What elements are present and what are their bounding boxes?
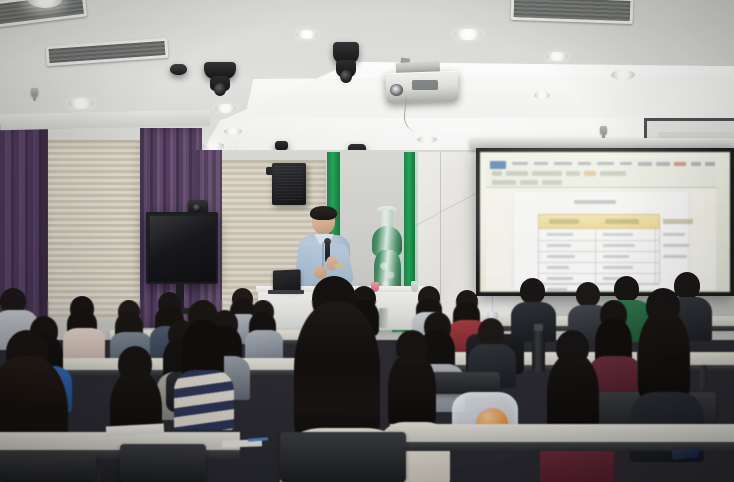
wristwatch-icon (334, 264, 343, 268)
desk-row-front (390, 424, 734, 442)
downlight-icon (202, 142, 224, 150)
projected-application-window (486, 158, 716, 290)
projected-app-logo-icon (490, 161, 506, 169)
desk-leg (700, 365, 707, 389)
lecture-hall-photo (0, 0, 734, 482)
chair (280, 432, 406, 482)
projection-surface (480, 152, 730, 292)
laptop-base (268, 290, 304, 294)
sprinkler-icon (31, 88, 38, 97)
projected-table-body (538, 229, 660, 284)
water-bottle (379, 308, 388, 328)
downlight-icon (68, 98, 94, 109)
wall-speaker (272, 163, 306, 205)
sprinkler-icon (600, 126, 607, 135)
camera-lens-icon (193, 204, 201, 212)
projector-lens-icon (390, 84, 403, 96)
bottle-cap (534, 324, 543, 331)
downlight-icon (417, 136, 437, 143)
projector-vent (412, 80, 438, 90)
downlight-icon (611, 70, 635, 80)
laptop-screen (273, 269, 301, 291)
ceiling-camera-icon (170, 64, 187, 75)
ceiling-camera-body (336, 60, 356, 78)
downlight-icon (224, 128, 242, 135)
display-reflection (150, 216, 214, 280)
projected-ribbon-toolbar (486, 158, 716, 188)
air-vent-icon (511, 0, 634, 24)
downlight-icon (454, 29, 482, 40)
ceiling-camera-body (210, 76, 230, 91)
chair (430, 372, 500, 394)
presenter-hair (310, 206, 337, 220)
downlight-icon (296, 30, 318, 39)
downlight-icon (215, 104, 236, 113)
cup-white (411, 281, 418, 292)
projected-document-page (514, 192, 688, 290)
chair (0, 452, 96, 482)
water-bottle-dark (532, 330, 545, 372)
ceiling-camera-icon (275, 141, 288, 150)
chair (120, 444, 206, 482)
downlight-icon (546, 52, 568, 61)
window-blind-left (46, 140, 146, 320)
downlight-icon (534, 92, 550, 99)
projected-table-header-row (538, 214, 660, 229)
projection-screen (476, 148, 734, 296)
